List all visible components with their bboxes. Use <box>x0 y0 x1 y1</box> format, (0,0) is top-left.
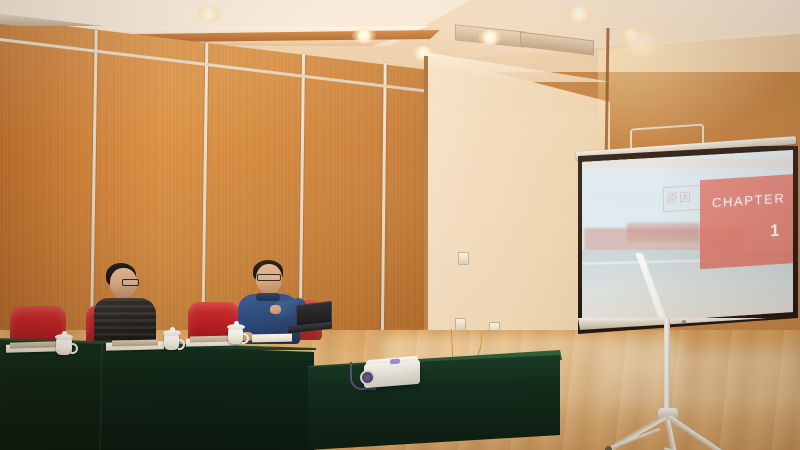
tripod-pole <box>664 318 670 414</box>
glasses-icon <box>257 274 281 281</box>
projector-table <box>308 355 560 450</box>
downlight-icon <box>566 6 592 22</box>
slide-chapter-number: 1 <box>770 221 779 242</box>
jacket-collar <box>256 293 280 301</box>
document-stack <box>112 339 158 346</box>
projection-screen: 原因 CHAPTER 1 <box>572 122 800 442</box>
projector-lens-icon <box>360 370 375 385</box>
screen-bottom-knob <box>682 320 686 324</box>
teacup <box>228 328 243 344</box>
conference-room-photo: 原因 CHAPTER 1 <box>0 0 800 450</box>
document-stack <box>10 341 56 348</box>
projector-knob <box>390 359 400 365</box>
downlight-icon <box>478 30 502 45</box>
hand <box>270 305 281 314</box>
screen-surface: 原因 CHAPTER 1 <box>580 150 794 328</box>
downlight-icon <box>196 6 222 22</box>
slide-chapter-panel <box>700 173 794 269</box>
tripod-foot <box>605 446 612 450</box>
glasses-icon <box>122 279 139 286</box>
wall-outlet <box>458 252 469 265</box>
slide-top-band <box>580 159 794 171</box>
slide-chinese-text: 原因 <box>666 188 692 207</box>
teacup <box>56 338 72 355</box>
downlight-icon <box>352 28 376 43</box>
teacup <box>164 334 179 350</box>
conference-table <box>0 336 314 450</box>
notepad <box>252 334 292 343</box>
